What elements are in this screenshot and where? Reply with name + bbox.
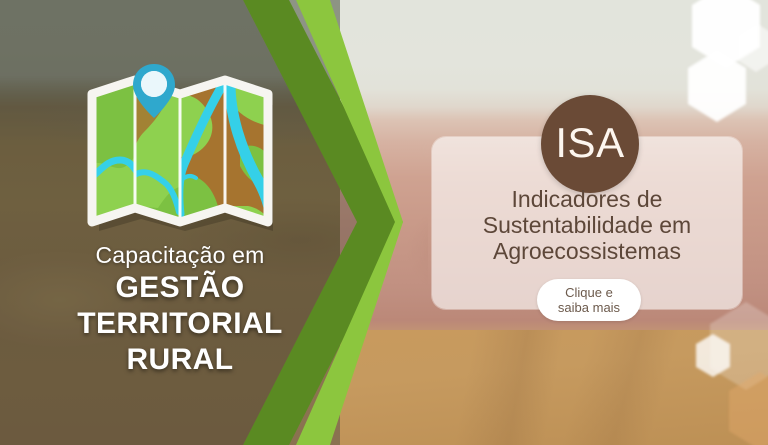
course-title: GESTÃO TERRITORIAL RURAL xyxy=(77,270,283,378)
course-title-line-1: GESTÃO xyxy=(77,270,283,306)
isa-badge: ISA xyxy=(541,95,639,193)
isa-heading-line-3: Agroecossistemas xyxy=(432,238,742,264)
hexagon-decor-edge xyxy=(734,22,768,74)
course-subtitle: Capacitação em xyxy=(96,242,265,268)
folded-map-icon xyxy=(80,56,280,236)
course-title-line-2: TERRITORIAL xyxy=(77,306,283,342)
isa-heading: Indicadores de Sustentabilidade em Agroe… xyxy=(432,186,742,264)
isa-heading-line-2: Sustentabilidade em xyxy=(432,212,742,238)
isa-badge-label: ISA xyxy=(555,122,624,164)
promo-banner: Capacitação em GESTÃO TERRITORIAL RURAL … xyxy=(0,0,768,445)
saiba-mais-button[interactable]: Clique e saiba mais xyxy=(537,279,641,321)
hexagon-decor-bottom-corner xyxy=(725,370,768,445)
isa-heading-line-1: Indicadores de xyxy=(432,186,742,212)
cta-line-2: saiba mais xyxy=(558,300,620,315)
cta-line-1: Clique e xyxy=(565,285,613,300)
left-content-block: Capacitação em GESTÃO TERRITORIAL RURAL xyxy=(0,0,360,445)
course-title-line-3: RURAL xyxy=(77,342,283,378)
